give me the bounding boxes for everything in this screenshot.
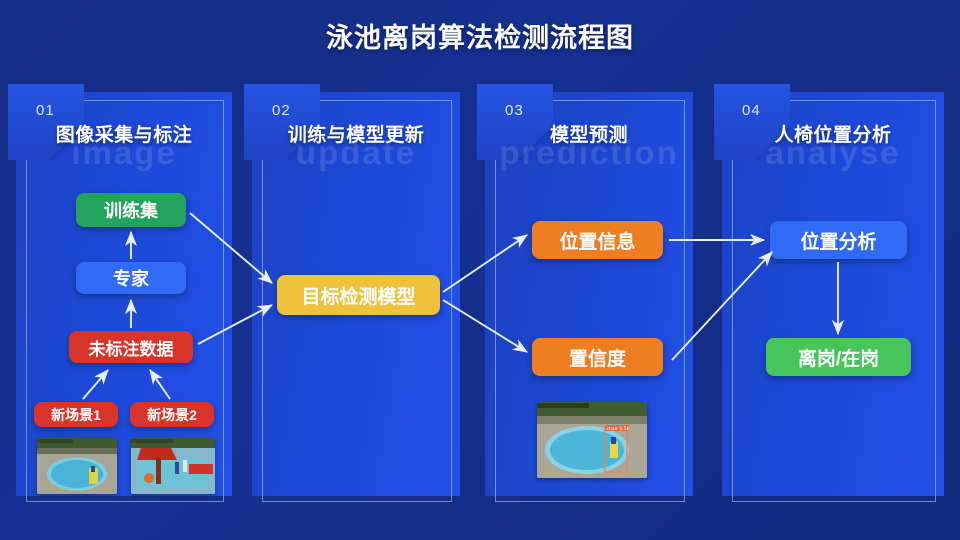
- panel-image-collection: 01 image 图像采集与标注: [16, 92, 232, 496]
- panel-position-analysis: 04 analyse 人椅位置分析: [722, 92, 944, 496]
- photo-detection-result: chair 0.56: [537, 402, 647, 478]
- page-title: 泳池离岗算法检测流程图: [0, 16, 960, 55]
- panel-number: 04: [742, 102, 761, 119]
- panel-title: 训练与模型更新: [252, 120, 460, 147]
- node-new-scene-2[interactable]: 新场景2: [130, 402, 214, 427]
- node-unlabeled-data[interactable]: 未标注数据: [69, 331, 193, 363]
- panel-number: 02: [272, 102, 291, 119]
- node-position-info[interactable]: 位置信息: [532, 221, 663, 259]
- panel-title: 模型预测: [485, 120, 693, 147]
- node-trainset[interactable]: 训练集: [76, 193, 186, 227]
- panel-number: 01: [36, 102, 55, 119]
- node-on-off-duty[interactable]: 离岗/在岗: [766, 338, 911, 376]
- photo-pool-scene-2: [131, 438, 215, 494]
- svg-text:chair 0.56: chair 0.56: [607, 426, 630, 432]
- node-new-scene-1[interactable]: 新场景1: [34, 402, 118, 427]
- photo-pool-scene-1: [37, 438, 117, 494]
- panel-title: 图像采集与标注: [16, 120, 232, 147]
- panel-number: 03: [505, 102, 524, 119]
- node-position-analysis[interactable]: 位置分析: [770, 221, 907, 259]
- node-confidence[interactable]: 置信度: [532, 338, 663, 376]
- panel-title: 人椅位置分析: [722, 120, 944, 147]
- node-detection-model[interactable]: 目标检测模型: [277, 275, 440, 315]
- node-expert[interactable]: 专家: [76, 262, 186, 294]
